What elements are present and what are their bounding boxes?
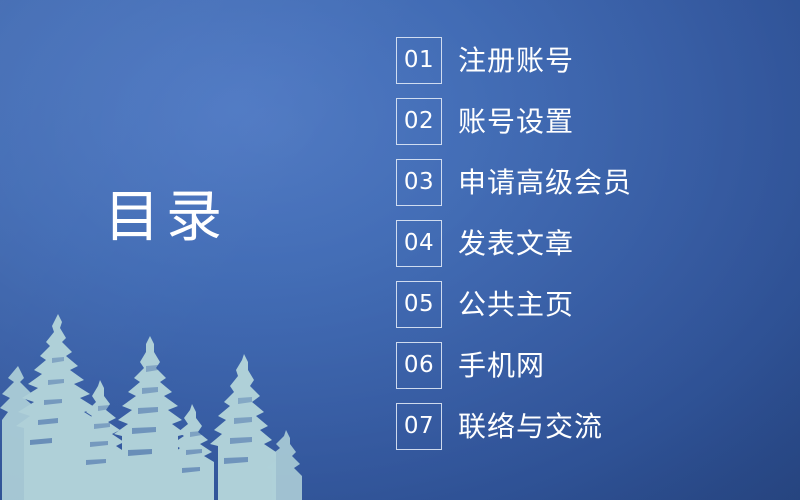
toc-label: 申请高级会员	[458, 169, 632, 197]
table-of-contents: 01 注册账号 02 账号设置 03 申请高级会员 04 发表文章 05	[396, 37, 632, 450]
toc-label: 手机网	[458, 352, 545, 380]
toc-item[interactable]: 03 申请高级会员	[396, 159, 632, 206]
toc-item[interactable]: 05 公共主页	[396, 281, 632, 328]
toc-number-box: 07	[396, 403, 442, 450]
toc-item[interactable]: 02 账号设置	[396, 98, 632, 145]
toc-number: 04	[404, 232, 434, 255]
toc-number-box: 02	[396, 98, 442, 145]
toc-number-box: 04	[396, 220, 442, 267]
toc-number-box: 03	[396, 159, 442, 206]
toc-label: 发表文章	[458, 230, 574, 258]
presentation-slide: 目录 01 注册账号 02 账号设置 03 申请高级会员 04 发表文章	[0, 0, 800, 500]
toc-item[interactable]: 06 手机网	[396, 342, 632, 389]
toc-label: 公共主页	[458, 291, 574, 319]
toc-number: 01	[404, 49, 434, 72]
pine-forest-decoration	[0, 300, 324, 500]
toc-number: 02	[404, 110, 434, 133]
toc-number-box: 05	[396, 281, 442, 328]
toc-item[interactable]: 07 联络与交流	[396, 403, 632, 450]
toc-number-box: 06	[396, 342, 442, 389]
toc-label: 注册账号	[458, 47, 574, 75]
toc-number: 07	[404, 415, 434, 438]
toc-number-box: 01	[396, 37, 442, 84]
toc-number: 05	[404, 293, 434, 316]
toc-item[interactable]: 04 发表文章	[396, 220, 632, 267]
slide-title: 目录	[104, 190, 228, 246]
toc-number: 03	[404, 171, 434, 194]
toc-number: 06	[404, 354, 434, 377]
toc-item[interactable]: 01 注册账号	[396, 37, 632, 84]
toc-label: 账号设置	[458, 108, 574, 136]
toc-label: 联络与交流	[458, 413, 603, 441]
